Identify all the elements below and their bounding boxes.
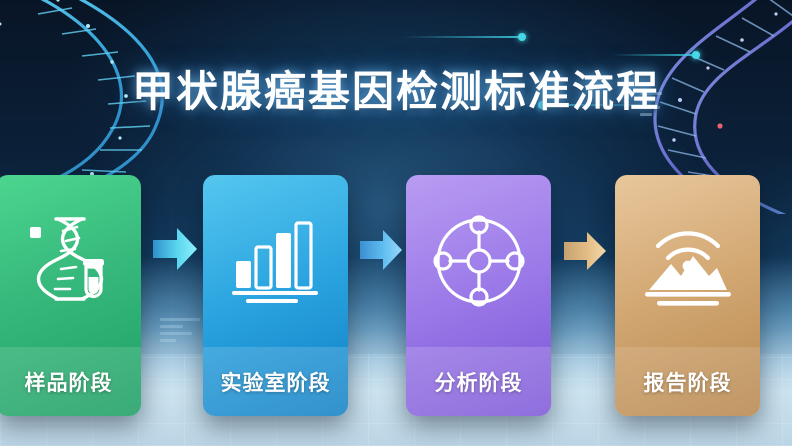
flow-step-label-band-laboratory: 实验室阶段 bbox=[203, 347, 348, 416]
flow-step-card-report[interactable]: 报告阶段 bbox=[615, 175, 760, 416]
bar-chart-icon bbox=[203, 175, 348, 347]
flow-step-label-laboratory: 实验室阶段 bbox=[221, 367, 331, 397]
flow-step-card-sample[interactable]: 样品阶段 bbox=[0, 175, 141, 416]
flow-step-label-band-report: 报告阶段 bbox=[615, 347, 760, 416]
page-title: 甲状腺癌基因检测标准流程 bbox=[0, 58, 792, 119]
network-nodes-icon bbox=[406, 175, 551, 347]
flow-step-label-sample: 样品阶段 bbox=[25, 367, 113, 397]
flow-step-label-band-analysis: 分析阶段 bbox=[406, 347, 551, 416]
signal-mountain-icon bbox=[615, 175, 760, 347]
flow-step-card-laboratory[interactable]: 实验室阶段 bbox=[203, 175, 348, 416]
flow-step-label-analysis: 分析阶段 bbox=[435, 367, 523, 397]
flow-step-label-report: 报告阶段 bbox=[644, 367, 732, 397]
flow-step-label-band-sample: 样品阶段 bbox=[0, 347, 141, 416]
flow-step-card-analysis[interactable]: 分析阶段 bbox=[406, 175, 551, 416]
flow-arrow-1-icon bbox=[151, 226, 199, 272]
flow-arrow-3-icon bbox=[562, 230, 608, 272]
connector-line-top-center bbox=[402, 36, 522, 38]
connector-line-top-right bbox=[612, 54, 696, 56]
process-flow: 样品阶段 实验室阶段 bbox=[0, 175, 792, 416]
flow-arrow-2-icon bbox=[358, 228, 404, 272]
slide-canvas: 甲状腺癌基因检测标准流程 bbox=[0, 0, 792, 446]
dna-test-tube-icon bbox=[0, 175, 141, 347]
